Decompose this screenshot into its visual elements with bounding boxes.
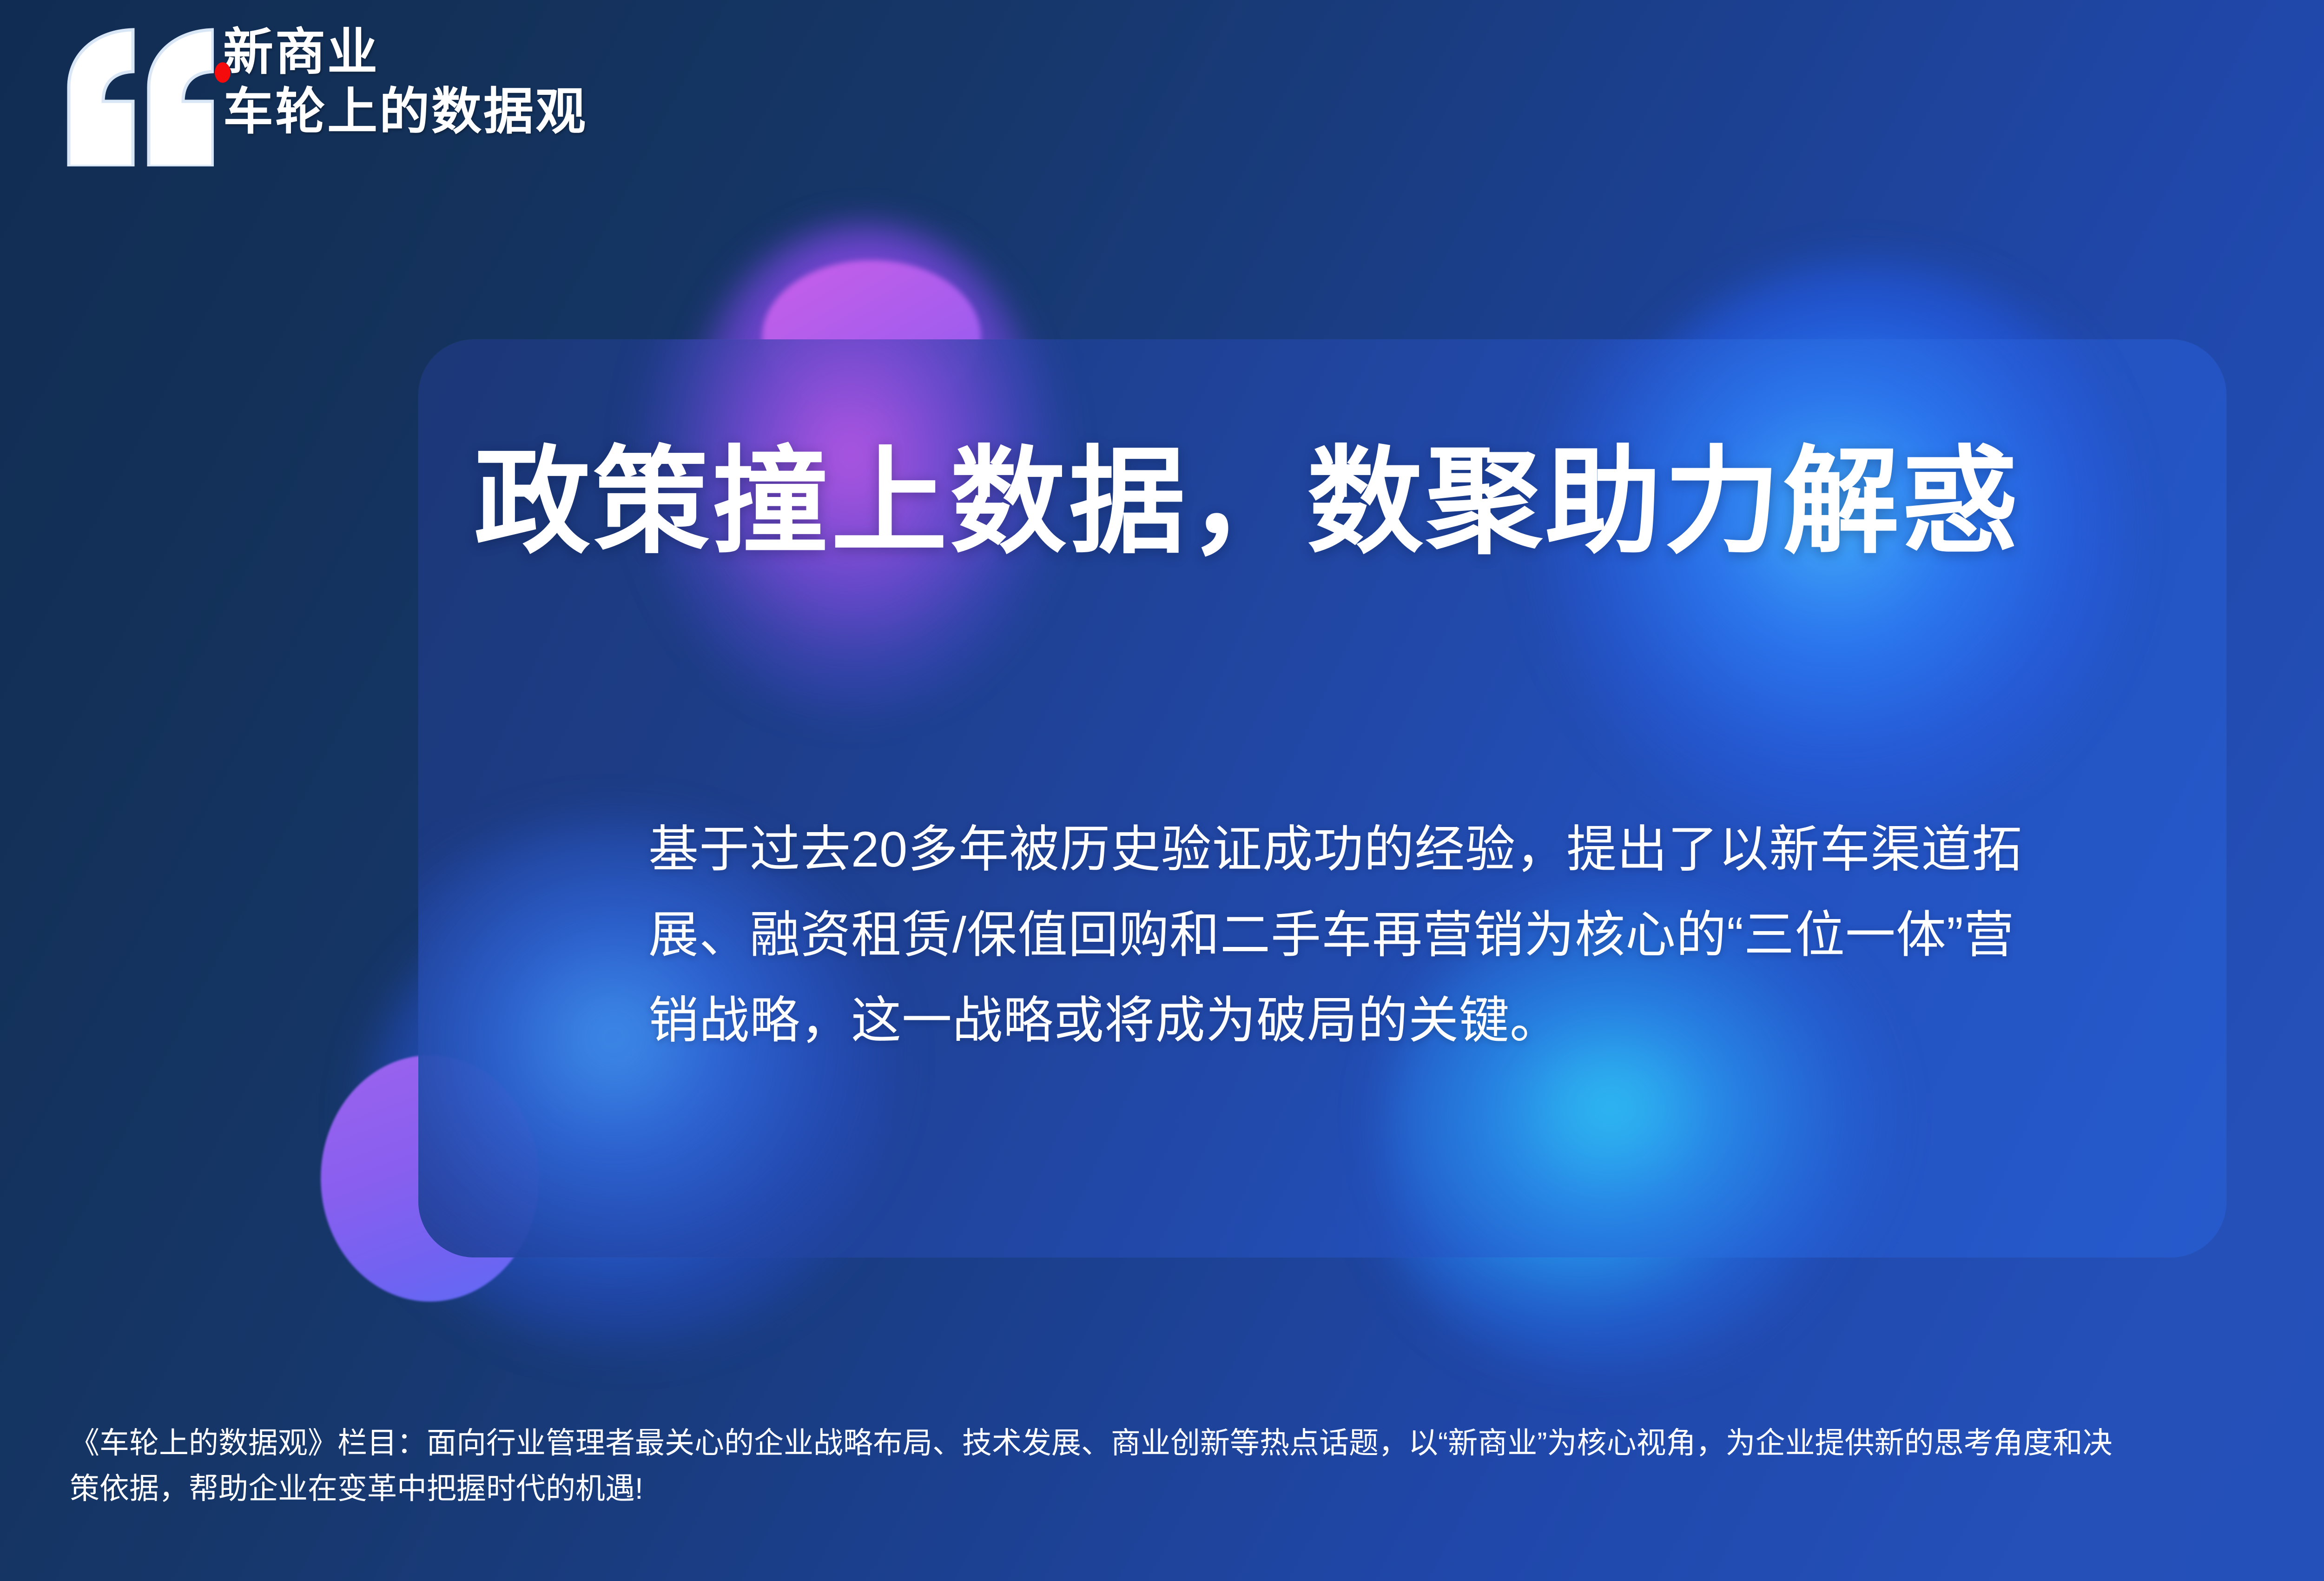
poster-canvas: 新商业 车轮上的数据观 政策撞上数据，数聚助力解惑 基于过去20多年被历史验证成… xyxy=(0,0,2324,1581)
left-double-quotation-mark-icon xyxy=(65,27,214,166)
footer-note: 《车轮上的数据观》栏目：面向行业管理者最关心的企业战略布局、技术发展、商业创新等… xyxy=(70,1420,2324,1511)
body-line: 销战略，这一战略或将成为破局的关键。 xyxy=(648,978,2117,1063)
brand-name-line-1: 新商业 xyxy=(223,24,379,80)
brand-name-block: 新商业 车轮上的数据观 xyxy=(223,22,588,141)
body-line: 基于过去20多年被历史验证成功的经验，提出了以新车渠道拓 xyxy=(648,807,2117,892)
page-title: 政策撞上数据，数聚助力解惑 xyxy=(474,432,2194,572)
card-glow-blue xyxy=(1543,339,2124,827)
footer-line: 《车轮上的数据观》栏目：面向行业管理者最关心的企业战略布局、技术发展、商业创新等… xyxy=(70,1420,2324,1466)
body-line: 展、融资租赁/保值回购和二手车再营销为核心的“三位一体”营 xyxy=(648,892,2117,978)
accent-dot-icon xyxy=(215,62,231,83)
brand-name-line-1-row: 新商业 xyxy=(223,22,588,82)
brand-logo: 新商业 车轮上的数据观 xyxy=(56,22,660,176)
brand-name-line-2: 车轮上的数据观 xyxy=(223,82,588,141)
body-paragraph: 基于过去20多年被历史验证成功的经验，提出了以新车渠道拓 展、融资租赁/保值回购… xyxy=(648,807,2117,1063)
footer-line: 策依据，帮助企业在变革中把握时代的机遇! xyxy=(70,1466,2324,1511)
